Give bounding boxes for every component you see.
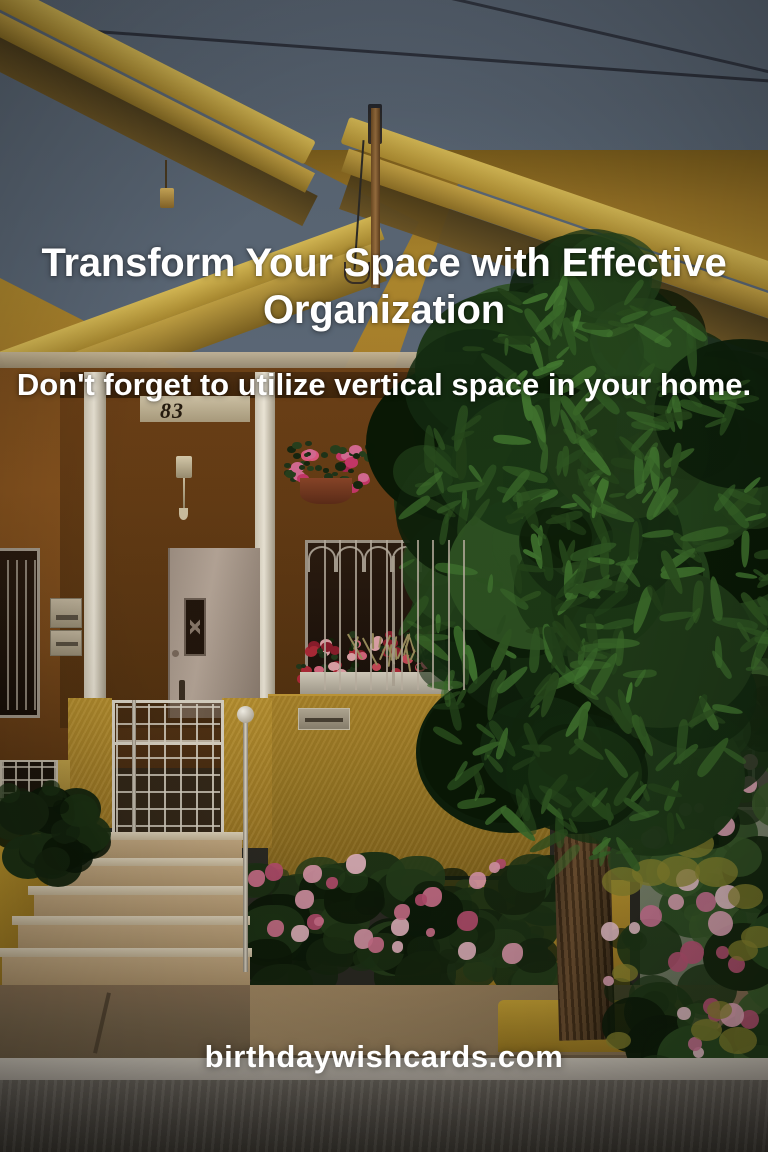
pinterest-image-card: 83	[0, 0, 768, 1152]
headline: Transform Your Space with Effective Orga…	[0, 240, 768, 334]
footer-website-url: birthdaywishcards.com	[0, 1039, 768, 1075]
subtitle: Don't forget to utilize vertical space i…	[0, 365, 768, 404]
text-overlay: Transform Your Space with Effective Orga…	[0, 0, 768, 1152]
